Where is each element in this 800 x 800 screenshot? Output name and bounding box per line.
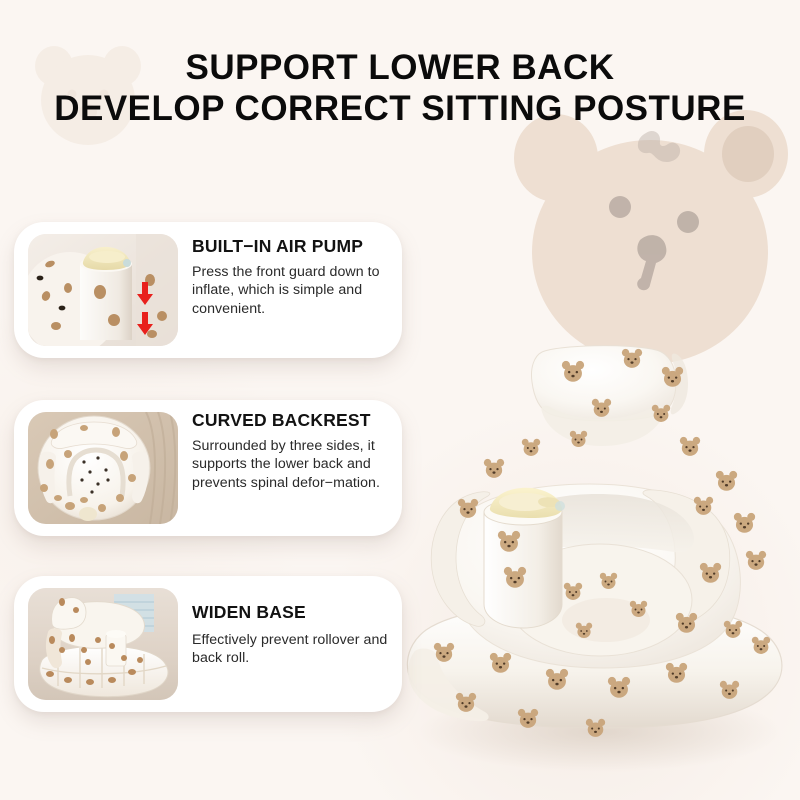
feature-description: Surrounded by three sides, it supports t… (192, 437, 392, 492)
feature-description: Effectively prevent rollover and back ro… (192, 631, 392, 668)
feature-photo-widen-base (28, 588, 178, 700)
feature-title: BUILT−IN AIR PUMP (192, 236, 392, 257)
feature-text-air-pump: BUILT−IN AIR PUMP Press the front guard … (192, 236, 392, 318)
feature-card-widen-base[interactable]: WIDEN BASE Effectively prevent rollover … (14, 576, 402, 712)
headline-line-1: SUPPORT LOWER BACK (0, 48, 800, 89)
headline-line-2: DEVELOP CORRECT SITTING POSTURE (0, 89, 800, 130)
feature-title: CURVED BACKREST (192, 410, 392, 431)
feature-card-built-in-air-pump[interactable]: BUILT−IN AIR PUMP Press the front guard … (14, 222, 402, 358)
feature-text-curved-backrest: CURVED BACKREST Surrounded by three side… (192, 410, 392, 492)
feature-card-curved-backrest[interactable]: CURVED BACKREST Surrounded by three side… (14, 400, 402, 536)
product-image-inflatable-baby-seat (392, 300, 800, 780)
feature-photo-air-pump (28, 234, 178, 346)
built-in-air-pump (484, 488, 565, 628)
page-headline: SUPPORT LOWER BACK DEVELOP CORRECT SITTI… (0, 48, 800, 129)
feature-photo-curved-backrest (28, 412, 178, 524)
feature-description: Press the front guard down to inflate, w… (192, 263, 392, 318)
feature-text-widen-base: WIDEN BASE Effectively prevent rollover … (192, 602, 392, 668)
feature-title: WIDEN BASE (192, 602, 392, 623)
infographic-canvas: SUPPORT LOWER BACK DEVELOP CORRECT SITTI… (0, 0, 800, 800)
